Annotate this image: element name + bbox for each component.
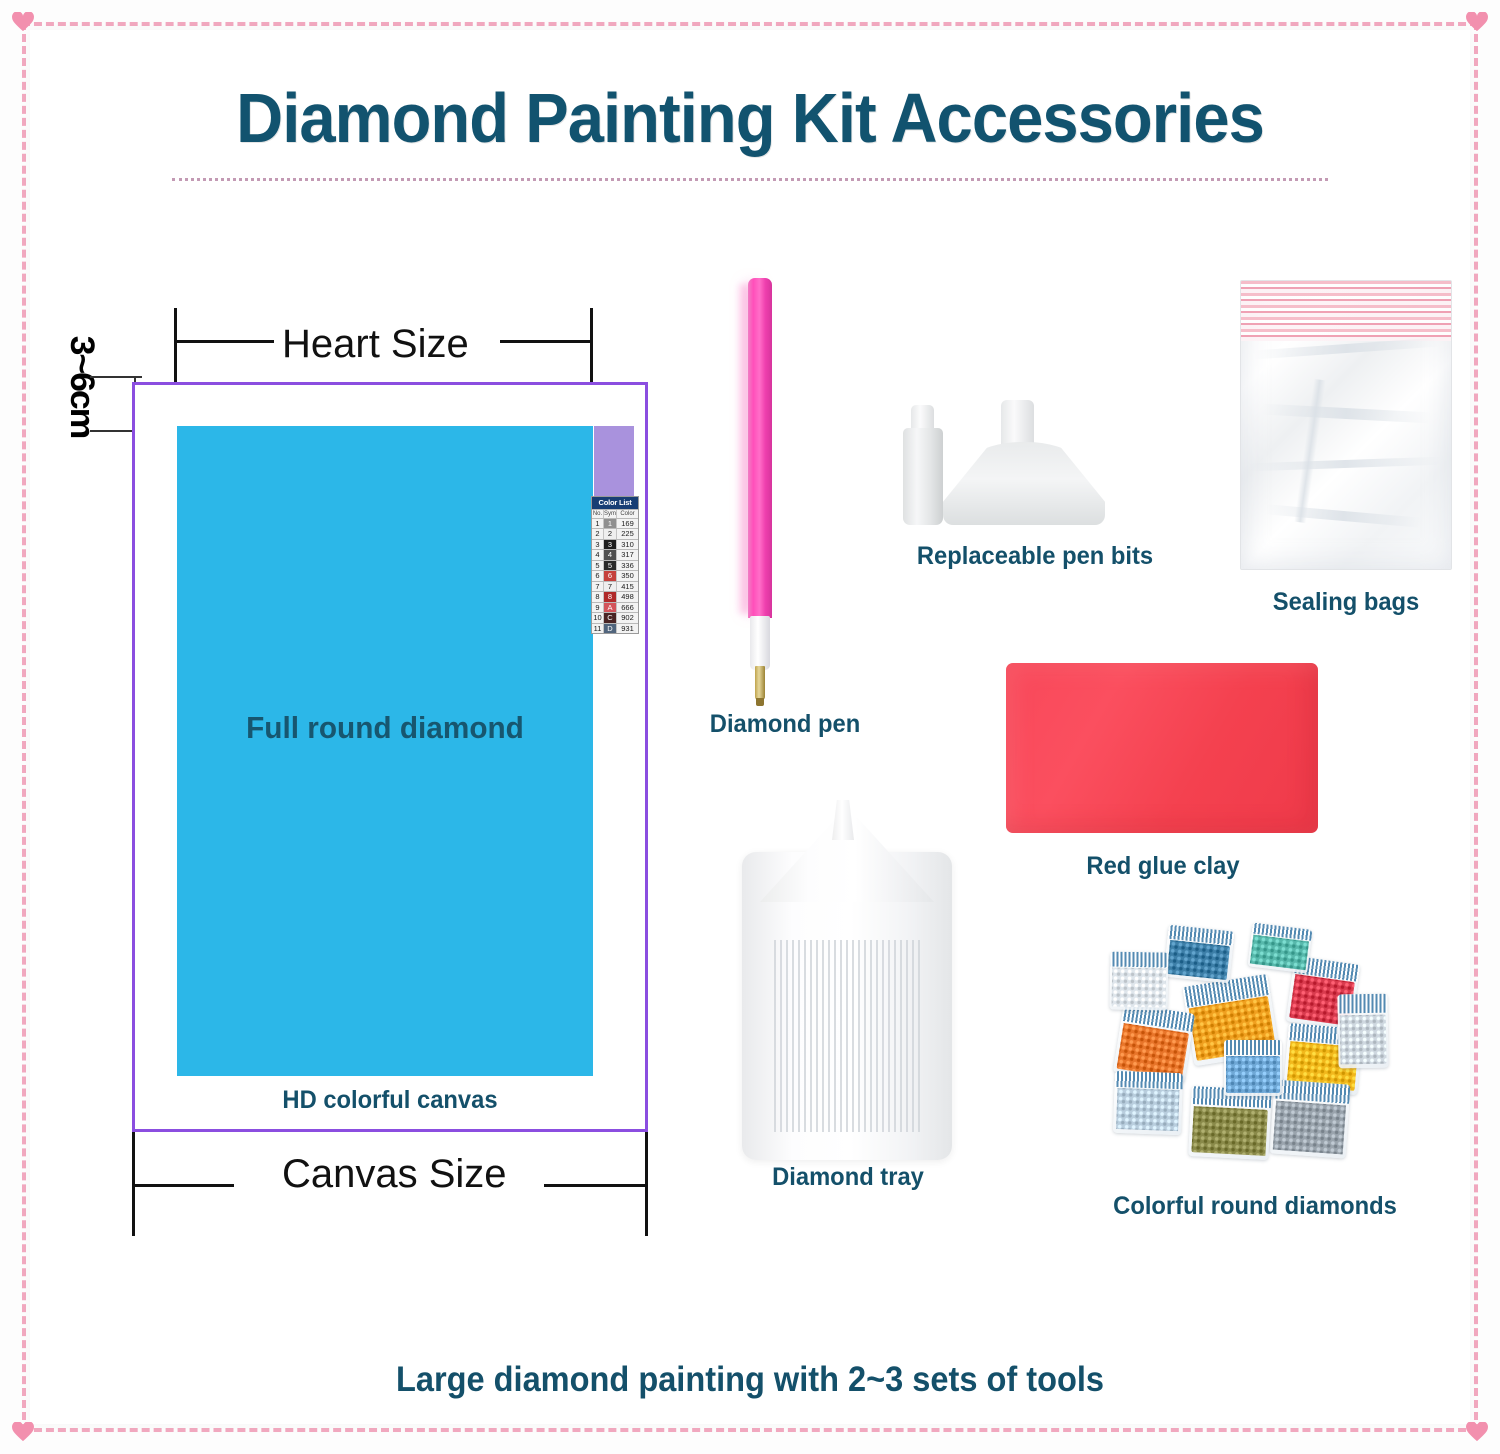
col-header-symbol: Symbol (604, 510, 617, 518)
pen-barrel (748, 278, 772, 618)
color-list-row: 77415 (592, 581, 638, 592)
color-list-symbol: 5 (604, 561, 617, 571)
pen-metal-tip (755, 666, 765, 700)
color-list-row: 9A666 (592, 602, 638, 613)
color-list-row: 66350 (592, 570, 638, 581)
diamond-bag-beads (1340, 1014, 1387, 1064)
title-divider (172, 178, 1328, 181)
color-list-row: 10C902 (592, 612, 638, 623)
color-list-symbol: C (604, 613, 617, 623)
pen-collar (750, 616, 770, 670)
color-list-symbol: 6 (604, 571, 617, 581)
color-list-title: Color List (592, 497, 638, 509)
pen-bit-single-body (903, 428, 943, 525)
canvas-size-diagram: 3~6cm Heart Size Full round diamond Colo… (32, 300, 712, 1230)
sealing-bags-image (1240, 280, 1452, 570)
bead-texture (1192, 1106, 1268, 1156)
bead-texture (1166, 939, 1230, 980)
red-glue-clay-image (1006, 663, 1318, 833)
heart-icon-top-right (1466, 12, 1488, 32)
color-list-symbol: 7 (604, 582, 617, 592)
bead-texture (1340, 1014, 1387, 1064)
col-header-color: Color (617, 510, 638, 518)
color-list-symbol: D (604, 624, 617, 634)
color-list-symbol: 3 (604, 540, 617, 550)
color-list-row: 33310 (592, 539, 638, 550)
color-list-row: 55336 (592, 560, 638, 571)
color-list-symbol: 1 (604, 519, 617, 529)
color-list-no: 3 (592, 540, 604, 550)
glue-clay-block (1006, 663, 1318, 833)
pen-bits-caption: Replaceable pen bits (888, 542, 1183, 571)
diamond-tray-caption: Diamond tray (745, 1163, 950, 1192)
color-list-row: 44317 (592, 549, 638, 560)
diamond-bag (1163, 925, 1234, 984)
canvas-size-label: Canvas Size (282, 1152, 507, 1197)
diamond-bag-beads (1273, 1100, 1346, 1154)
diamond-bag-beads (1166, 939, 1230, 980)
color-list-no: 10 (592, 613, 604, 623)
color-list-code: 498 (617, 592, 638, 602)
color-swatch (594, 426, 634, 498)
color-list-code: 310 (617, 540, 638, 550)
infographic-page: Diamond Painting Kit Accessories 3~6cm H… (0, 0, 1500, 1454)
colorful-diamonds-caption: Colorful round diamonds (1098, 1192, 1412, 1221)
bag-zipper-strip (1241, 281, 1451, 341)
diamond-pen-image (700, 278, 870, 748)
color-list-code: 317 (617, 550, 638, 560)
bag-crease-2 (1262, 403, 1430, 423)
bead-texture (1116, 1088, 1180, 1131)
color-list-symbol: 8 (604, 592, 617, 602)
bag-crease-4 (1266, 505, 1422, 529)
sealing-bag (1240, 280, 1452, 570)
color-list-no: 7 (592, 582, 604, 592)
col-header-no: No. (592, 510, 604, 518)
color-list-no: 9 (592, 603, 604, 613)
heart-size-right-arm (500, 340, 593, 343)
bag-crease-3 (1249, 456, 1442, 471)
color-list-no: 5 (592, 561, 604, 571)
pen-highlight (736, 284, 748, 614)
hd-canvas-caption: HD colorful canvas (145, 1086, 635, 1115)
color-list-code: 415 (617, 582, 638, 592)
color-list-code: 931 (617, 624, 638, 634)
pen-bit-multi-body (943, 442, 1105, 525)
diamond-bag (1113, 1071, 1183, 1135)
color-list-symbol: 2 (604, 529, 617, 539)
bag-crease-1 (1254, 338, 1439, 360)
red-glue-clay-caption: Red glue clay (1016, 852, 1311, 881)
color-list-row: 11169 (592, 518, 638, 529)
color-list-row: 22225 (592, 528, 638, 539)
bead-texture (1250, 935, 1308, 971)
color-list-no: 1 (592, 519, 604, 529)
diamond-bag-beads (1116, 1023, 1189, 1079)
tray-grooves (770, 940, 924, 1132)
color-list-row: 88498 (592, 591, 638, 602)
full-round-diamond-area: Full round diamond (177, 426, 593, 1076)
color-list-code: 336 (617, 561, 638, 571)
diamond-bag (1188, 1086, 1272, 1160)
color-list-code: 902 (617, 613, 638, 623)
pen-tip-cap (756, 698, 764, 706)
heart-icon-bottom-left (12, 1422, 34, 1442)
sealing-bags-caption: Sealing bags (1232, 588, 1460, 617)
diamond-bag-beads (1112, 968, 1166, 1007)
tray-spout (832, 800, 854, 840)
color-list-table: Color List No. Symbol Color 111692222533… (591, 496, 639, 634)
diamond-bag-beads (1226, 1056, 1279, 1093)
bead-texture (1116, 1023, 1189, 1079)
bead-texture (1112, 968, 1166, 1007)
bead-texture (1226, 1056, 1279, 1093)
bag-crease-5 (1294, 379, 1326, 523)
footer-tagline: Large diamond painting with 2~3 sets of … (53, 1360, 1448, 1400)
color-list-symbol: A (604, 603, 617, 613)
color-list-no: 2 (592, 529, 604, 539)
diamond-bag (1248, 923, 1313, 974)
diamond-bag (1224, 1040, 1282, 1096)
color-list-code: 666 (617, 603, 638, 613)
diamond-bag-beads (1192, 1106, 1268, 1156)
canvas-size-left-arm (132, 1184, 234, 1187)
canvas-size-right-arm (544, 1184, 648, 1187)
bead-texture (1273, 1100, 1346, 1154)
diamond-tray-image (742, 800, 952, 1160)
color-list-row: 11D931 (592, 623, 638, 634)
color-list-code: 350 (617, 571, 638, 581)
diamond-pen-caption: Diamond pen (666, 710, 904, 739)
color-list-no: 11 (592, 624, 604, 634)
diamond-bag (1109, 951, 1168, 1010)
pen-bits-image (895, 400, 1175, 530)
colorful-diamonds-image (1104, 922, 1404, 1178)
heart-size-left-arm (174, 340, 274, 343)
color-list-no: 4 (592, 550, 604, 560)
page-title: Diamond Painting Kit Accessories (53, 78, 1448, 158)
diamond-bag-beads (1250, 935, 1308, 971)
heart-icon-bottom-right (1466, 1422, 1488, 1442)
color-list-code: 169 (617, 519, 638, 529)
color-list-symbol: 4 (604, 550, 617, 560)
diamond-bag (1337, 994, 1388, 1069)
heart-icon-top-left (12, 12, 34, 32)
full-round-diamond-label: Full round diamond (185, 710, 584, 746)
diamond-bag-beads (1116, 1088, 1180, 1131)
color-list-no: 6 (592, 571, 604, 581)
color-list-no: 8 (592, 592, 604, 602)
color-list-code: 225 (617, 529, 638, 539)
heart-size-label: Heart Size (282, 322, 469, 367)
color-list-header-row: No. Symbol Color (592, 509, 638, 518)
